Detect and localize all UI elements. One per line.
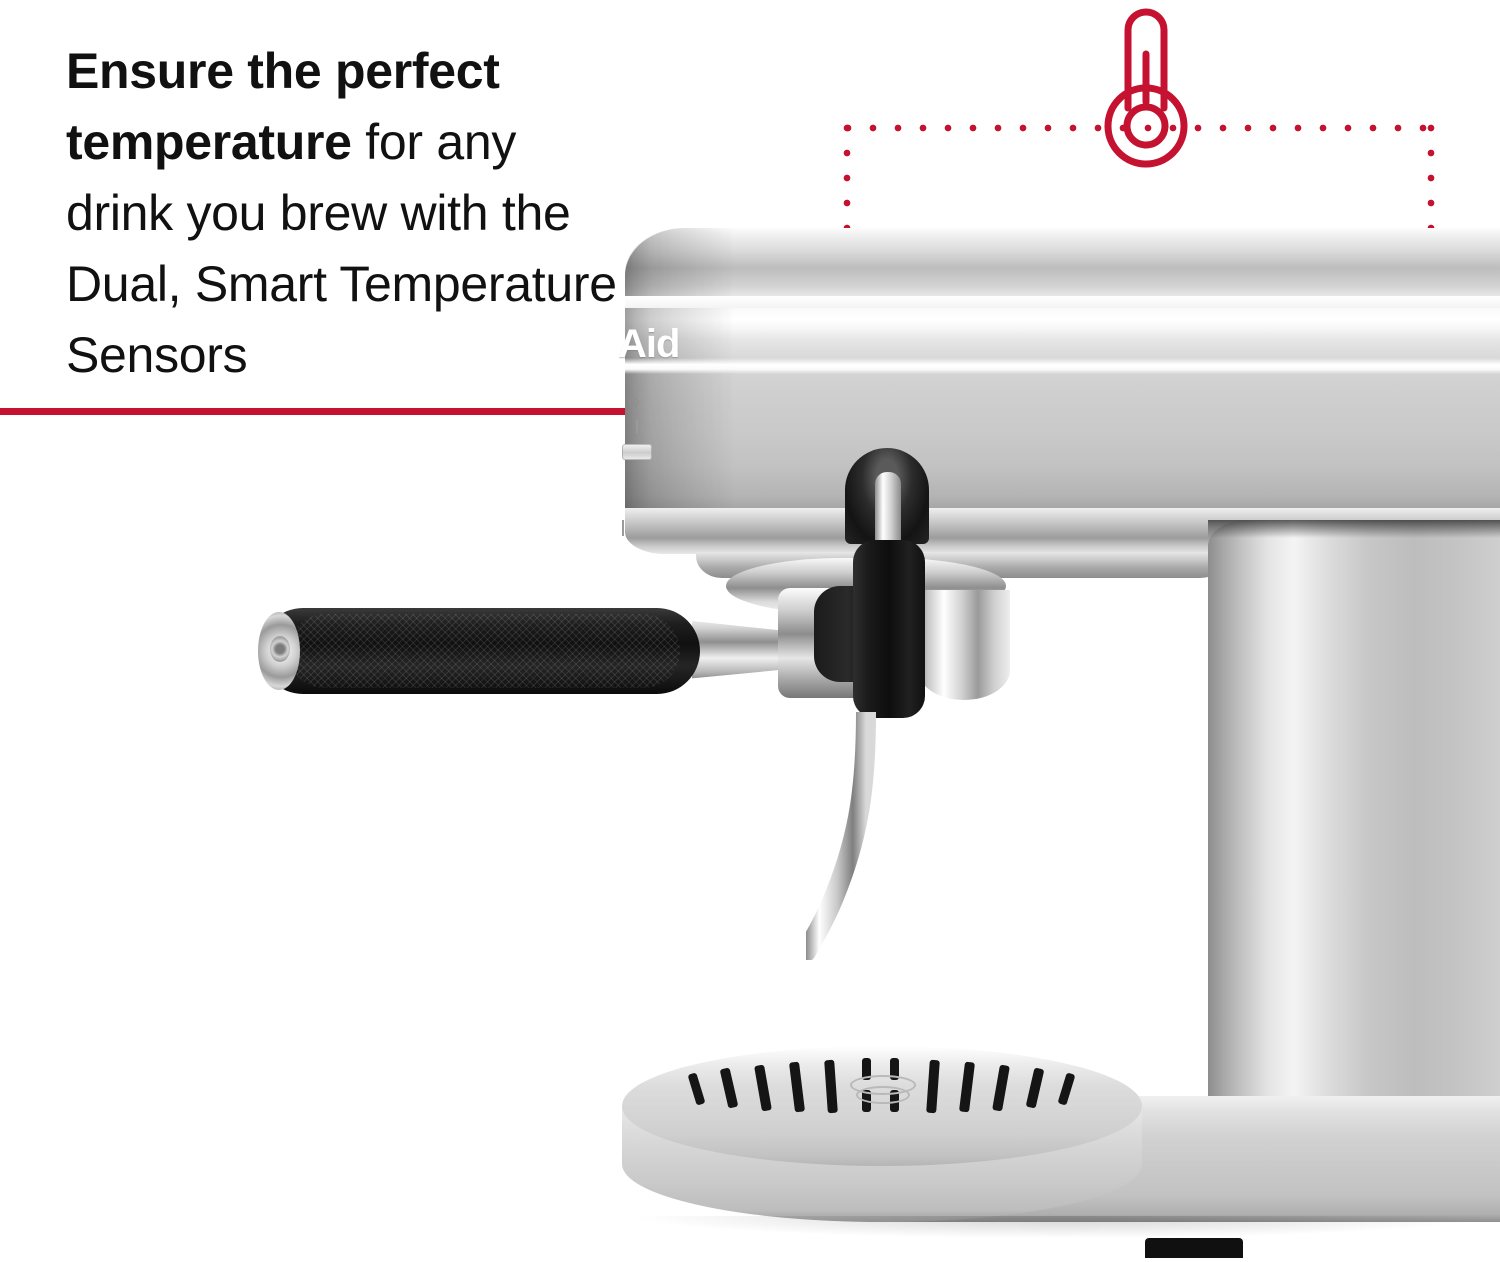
base-foot-notch — [1145, 1238, 1243, 1258]
espresso-machine: Aid ☮ 🔒 — [600, 0, 1500, 1262]
headline-text: Ensure the perfect temperature for any d… — [66, 36, 626, 391]
column-top-shadow — [1208, 520, 1500, 538]
control-tick — [636, 420, 638, 433]
group-head-post — [918, 590, 1010, 700]
headline-emphasis-lead: Ensure the perfect — [66, 43, 500, 99]
indicator-tick-1 — [622, 520, 624, 536]
steam-wand-grip[interactable] — [853, 540, 925, 718]
portafilter-cap-hub — [270, 636, 290, 662]
machine-body-column — [1208, 520, 1500, 1120]
steam-wand-lower-tube — [806, 712, 922, 960]
red-accent-rule — [0, 408, 632, 415]
deck-lower-band — [625, 358, 1500, 374]
control-slider[interactable] — [622, 444, 652, 460]
product-feature-callout: Ensure the perfect temperature for any d… — [0, 0, 1500, 1262]
deck-highlight-band — [625, 296, 1500, 308]
portafilter-grip-texture — [288, 614, 680, 688]
steam-glyph: ☮ — [628, 396, 640, 409]
drip-tray-grate[interactable] — [622, 1046, 1142, 1166]
contact-shadow — [640, 1216, 1480, 1238]
grate-center-ring — [856, 1086, 910, 1104]
machine-top-deck — [625, 228, 1500, 528]
deck-left-shoulder — [625, 228, 755, 528]
headline-emphasis-tail: temperature — [66, 114, 352, 170]
